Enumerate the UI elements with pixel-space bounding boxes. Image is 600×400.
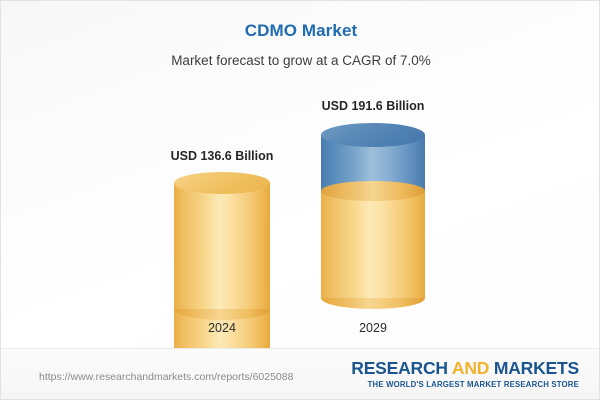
report-url-link[interactable]: https://www.researchandmarkets.com/repor… [39,371,293,383]
cylinder-2024[interactable] [174,172,270,309]
cylinder-segment-seam-2029 [321,181,425,201]
bar-group-2029[interactable]: USD 191.6 Billion 2029 [263,86,483,341]
cylinder-top-cap-2029 [321,123,425,147]
brand-word-and: AND [452,358,489,378]
brand-word-research: RESEARCH [351,358,452,378]
chart-subtitle: Market forecast to grow at a CAGR of 7.0… [1,53,600,68]
cylinder-2029[interactable] [321,123,425,309]
brand-word-markets: MARKETS [489,358,579,378]
value-label-2029: USD 191.6 Billion [263,99,483,113]
cylinder-top-cap-2024 [174,172,270,194]
chart-canvas: CDMO Market Market forecast to grow at a… [0,0,600,400]
x-axis-label-2029: 2029 [263,321,483,335]
brand-tagline: THE WORLD'S LARGEST MARKET RESEARCH STOR… [351,380,579,389]
cylinder-body-yellow-overlay-2029 [321,191,425,298]
footer: https://www.researchandmarkets.com/repor… [1,349,600,399]
brand-wordmark: RESEARCH AND MARKETS [351,358,579,379]
brand-logo[interactable]: RESEARCH AND MARKETS THE WORLD'S LARGEST… [351,358,579,389]
plot-area: USD 136.6 Billion 2024 USD 191.6 Billion [1,86,600,341]
page-title: CDMO Market [1,21,600,41]
cylinder-body-overlay-2024 [174,183,270,309]
